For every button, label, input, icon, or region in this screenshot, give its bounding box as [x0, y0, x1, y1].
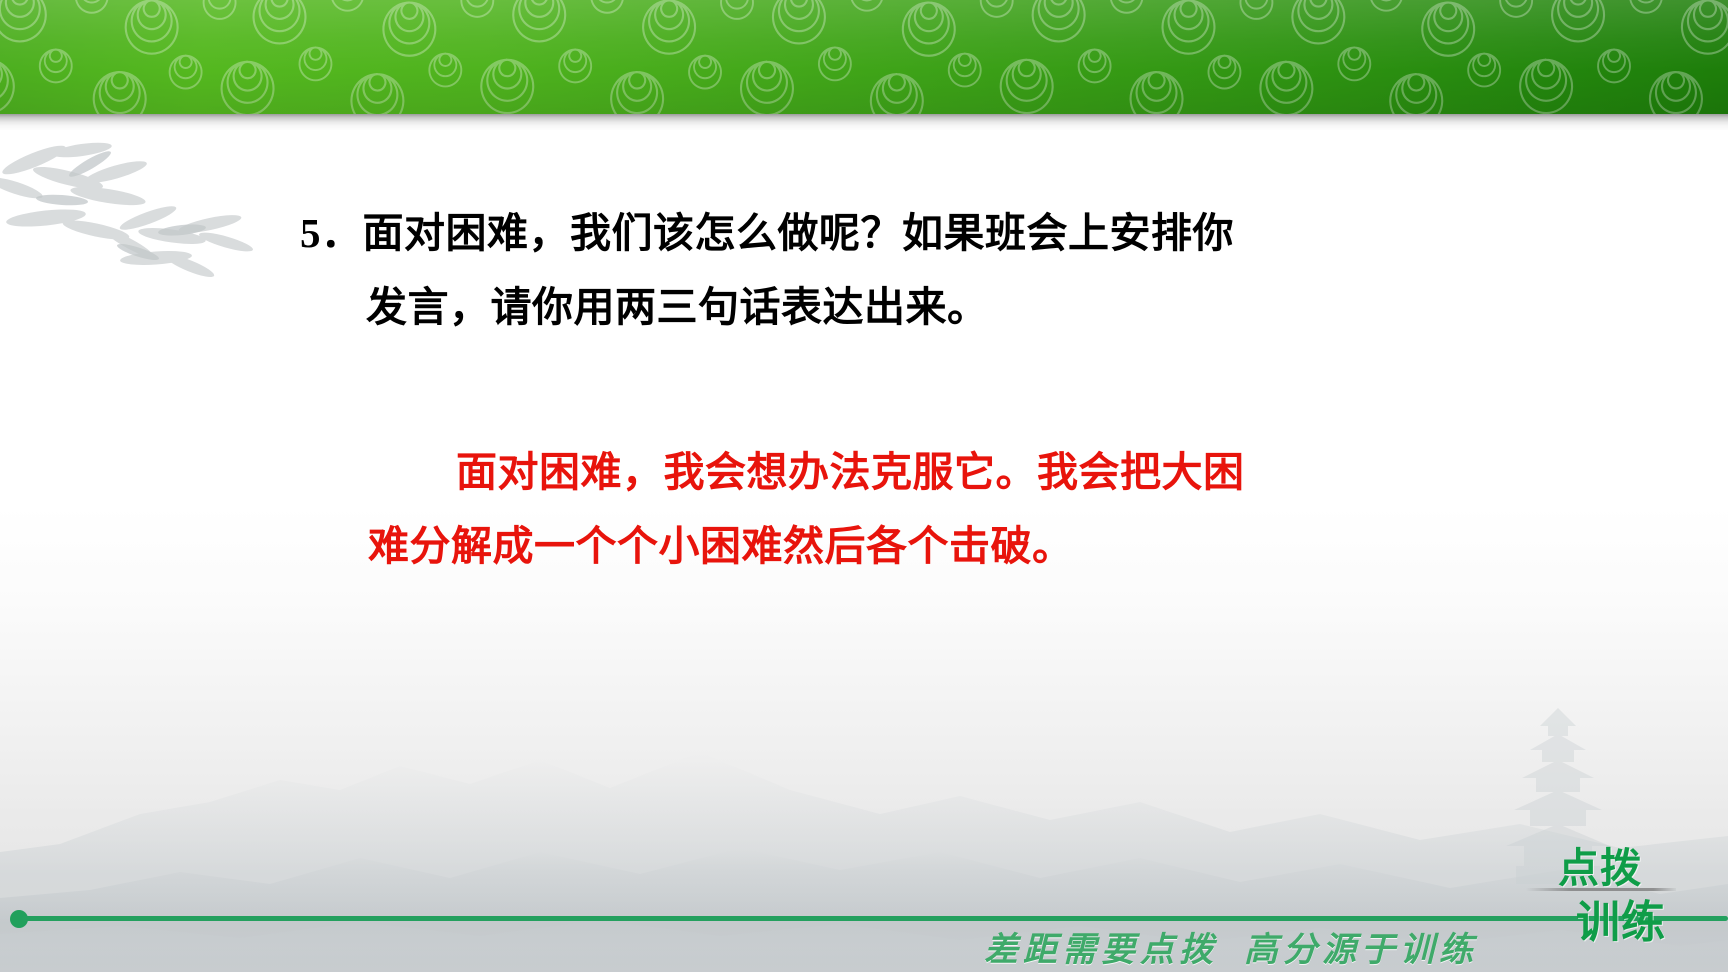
brand-logo-bottom-text: 训练 [1576, 886, 1666, 950]
answer-line-2: 难分解成一个个小困难然后各个击破。 [368, 509, 1368, 583]
brand-logo-top-text: 点拨 [1558, 834, 1642, 894]
question-number-suffix: ． [321, 210, 363, 256]
question-line-1-text: 面对困难，我们该怎么做呢？如果班会上安排你 [363, 210, 1235, 256]
footer-rule [22, 916, 1728, 921]
brand-logo: 点拨 训练 [1530, 834, 1710, 958]
question-line-1: 5．面对困难，我们该怎么做呢？如果班会上安排你 [300, 196, 1360, 270]
slide-content: 5．面对困难，我们该怎么做呢？如果班会上安排你 发言，请你用两三句话表达出来。 … [0, 0, 1728, 972]
question-line-2: 发言，请你用两三句话表达出来。 [300, 270, 1360, 344]
footer-tagline: 差距需要点拨高分源于训练 [984, 922, 1478, 971]
answer-block: 面对困难，我会想办法克服它。我会把大困 难分解成一个个小困难然后各个击破。 [368, 435, 1368, 583]
slide-canvas: 5．面对困难，我们该怎么做呢？如果班会上安排你 发言，请你用两三句话表达出来。 … [0, 0, 1728, 972]
tagline-part-1: 差距需要点拨 [984, 932, 1218, 969]
question-block: 5．面对困难，我们该怎么做呢？如果班会上安排你 发言，请你用两三句话表达出来。 [300, 196, 1360, 344]
tagline-part-2: 高分源于训练 [1244, 932, 1478, 969]
question-number: 5 [300, 210, 321, 256]
answer-line-1: 面对困难，我会想办法克服它。我会把大困 [368, 435, 1368, 509]
